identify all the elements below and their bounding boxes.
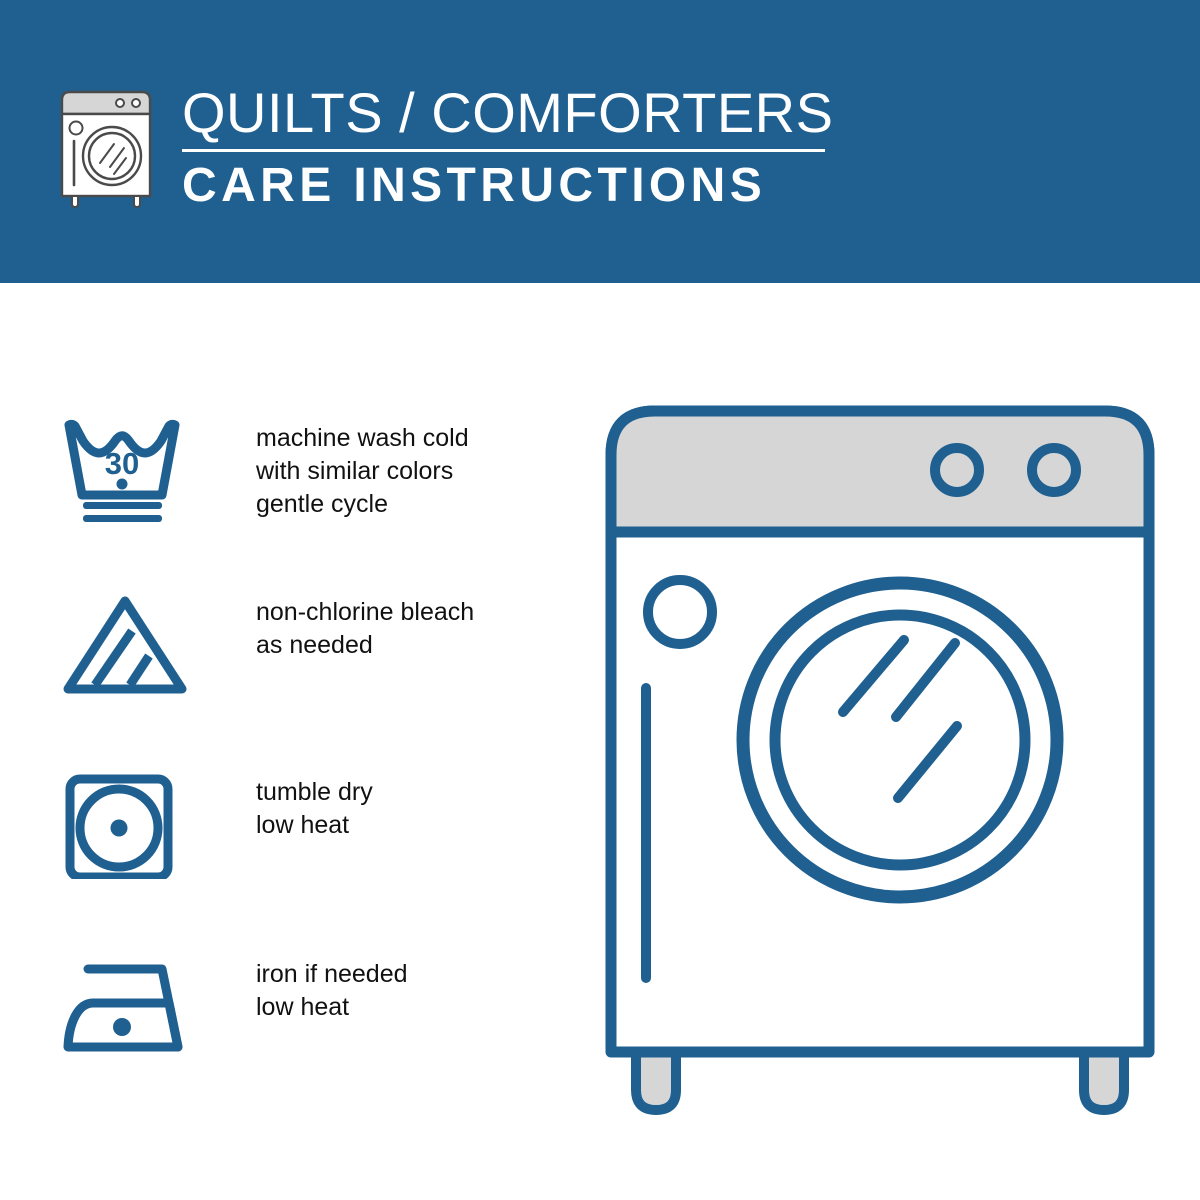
gentle-cycle-bar-2 (83, 515, 162, 522)
care-symbol-wash: 30 (62, 419, 194, 525)
gentle-cycle-bar-1 (83, 502, 162, 509)
care-row-bleach: non-chlorine bleach as needed (62, 593, 474, 699)
care-label-line: machine wash cold (256, 422, 469, 455)
knob-left[interactable] (935, 448, 979, 492)
iron-heat-dot-icon (113, 1018, 131, 1036)
iron-low-heat-icon (62, 955, 194, 1061)
care-label-line: low heat (256, 809, 373, 842)
door-outer-ring[interactable] (743, 583, 1057, 897)
care-label-tumble-dry: tumble dry low heat (256, 773, 373, 842)
front-load-washing-machine-illustration (600, 400, 1160, 1120)
care-label-bleach: non-chlorine bleach as needed (256, 593, 474, 662)
care-symbol-iron (62, 955, 194, 1061)
dry-heat-dot-icon (111, 820, 128, 837)
care-label-line: gentle cycle (256, 488, 469, 521)
washing-machine-icon (52, 84, 160, 212)
care-label-line: with similar colors (256, 455, 469, 488)
header-content: QUILTS / COMFORTERS CARE INSTRUCTIONS (52, 80, 833, 212)
care-symbol-tumble-dry (62, 773, 194, 879)
title-divider (182, 149, 825, 152)
non-chlorine-bleach-icon (62, 593, 194, 699)
care-label-line: tumble dry (256, 776, 373, 809)
wash-temperature-label: 30 (105, 446, 139, 481)
tumble-dry-low-icon (62, 773, 194, 879)
title-block: QUILTS / COMFORTERS CARE INSTRUCTIONS (182, 80, 833, 211)
knob-right[interactable] (1032, 448, 1076, 492)
care-label-line: low heat (256, 991, 408, 1024)
care-label-line: non-chlorine bleach (256, 596, 474, 629)
machine-wash-30-gentle-icon: 30 (62, 419, 194, 525)
care-instruction-list: 30 machine wash cold with similar colors… (0, 283, 560, 1200)
page-subtitle: CARE INSTRUCTIONS (182, 161, 833, 211)
care-label-iron: iron if needed low heat (256, 955, 408, 1024)
care-label-line: as needed (256, 629, 474, 662)
page-header: QUILTS / COMFORTERS CARE INSTRUCTIONS (0, 0, 1200, 283)
indicator-circle[interactable] (648, 580, 712, 644)
page-title: QUILTS / COMFORTERS (182, 84, 833, 142)
care-row-tumble-dry: tumble dry low heat (62, 773, 373, 879)
care-symbol-bleach (62, 593, 194, 699)
care-row-iron: iron if needed low heat (62, 955, 408, 1061)
care-label-line: iron if needed (256, 958, 408, 991)
care-row-wash: 30 machine wash cold with similar colors… (62, 419, 469, 525)
wash-dot-icon (117, 479, 128, 490)
care-label-wash: machine wash cold with similar colors ge… (256, 419, 469, 521)
